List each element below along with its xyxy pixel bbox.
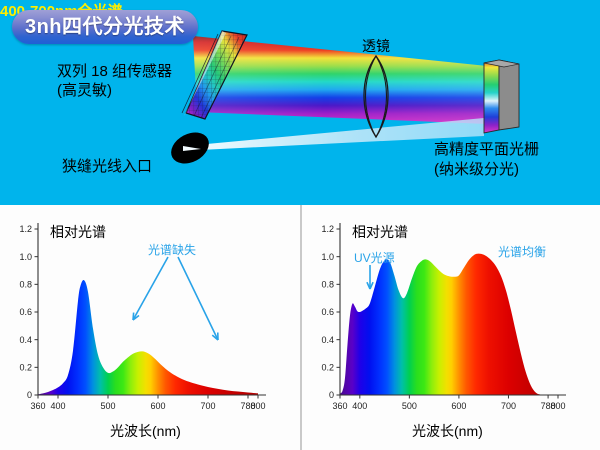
y-tick-label: 0 [27, 390, 32, 400]
spectral-optics-diagram: 3nh四代分光技术 双列 18 组传感器 (高灵敏) 狭缝光线入口 透镜 高精度… [0, 0, 600, 205]
right-chart-xlabel: 光波长(nm) [412, 421, 483, 441]
x-tick-label: 600 [150, 401, 165, 411]
x-tick-label: 700 [501, 401, 516, 411]
grating-label-line1: 高精度平面光栅 [434, 140, 539, 160]
x-tick-label: 360 [30, 401, 45, 411]
lens-label: 透镜 [362, 38, 390, 56]
y-tick-label: 0.2 [321, 363, 334, 373]
y-tick-label: 0.4 [19, 335, 32, 345]
y-tick-label: 1.0 [321, 252, 334, 262]
chart-panel-left: 00.20.40.60.81.01.2360400500600700780800… [0, 205, 300, 450]
right-chart-annotation: 光谱均衡 [498, 243, 546, 260]
right-spectrum-chart: 00.20.40.60.81.01.2360400500600700780800 [302, 205, 600, 450]
x-tick-label: 400 [50, 401, 65, 411]
screenshot-root: 3nh四代分光技术 双列 18 组传感器 (高灵敏) 狭缝光线入口 透镜 高精度… [0, 0, 600, 450]
y-tick-label: 0.6 [321, 307, 334, 317]
chart-panels: 00.20.40.60.81.01.2360400500600700780800… [0, 205, 600, 450]
slit-label: 狭缝光线入口 [62, 158, 152, 177]
x-tick-label: 500 [402, 401, 417, 411]
grating-label: 高精度平面光栅 (纳米级分光) [434, 140, 539, 179]
sensor-label-line2: (高灵敏) [57, 82, 172, 101]
title-badge-label: 3nh四代分光技术 [25, 17, 185, 37]
y-tick-label: 1.2 [19, 224, 32, 234]
spectrum-area [38, 280, 258, 395]
left-chart-xlabel: 光波长(nm) [110, 421, 181, 441]
annotation-arrow [133, 257, 168, 320]
y-tick-label: 1.0 [19, 252, 32, 262]
chart-panel-right: 00.20.40.60.81.01.2360400500600700780800… [300, 205, 600, 450]
y-tick-label: 0.6 [19, 307, 32, 317]
annotation-arrow [178, 257, 218, 340]
sensor-label-line1: 双列 18 组传感器 [57, 63, 172, 82]
grating-label-line2: (纳米级分光) [434, 160, 539, 180]
y-tick-label: 0.2 [19, 363, 32, 373]
right-chart-title: 相对光谱 [352, 222, 408, 242]
y-tick-label: 0.8 [19, 280, 32, 290]
y-tick-label: 0.4 [321, 335, 334, 345]
right-chart-uv-annotation: UV光源 [354, 249, 395, 266]
y-tick-label: 1.2 [321, 224, 334, 234]
x-tick-label: 400 [352, 401, 367, 411]
x-tick-label: 700 [200, 401, 215, 411]
spectrum-area [340, 254, 558, 395]
left-chart-annotation: 光谱缺失 [148, 241, 196, 258]
annotation-arrow [367, 265, 373, 289]
y-tick-label: 0.8 [321, 280, 334, 290]
slit-aperture-icon [166, 126, 214, 170]
title-badge: 3nh四代分光技术 [12, 10, 198, 44]
y-tick-label: 0 [329, 390, 334, 400]
sensor-label: 双列 18 组传感器 (高灵敏) [57, 63, 172, 101]
diffraction-grating-icon [484, 60, 519, 133]
x-tick-label: 800 [250, 401, 265, 411]
x-tick-label: 800 [550, 401, 565, 411]
x-tick-label: 360 [332, 401, 347, 411]
left-chart-title: 相对光谱 [50, 222, 106, 242]
x-tick-label: 600 [451, 401, 466, 411]
x-tick-label: 500 [100, 401, 115, 411]
